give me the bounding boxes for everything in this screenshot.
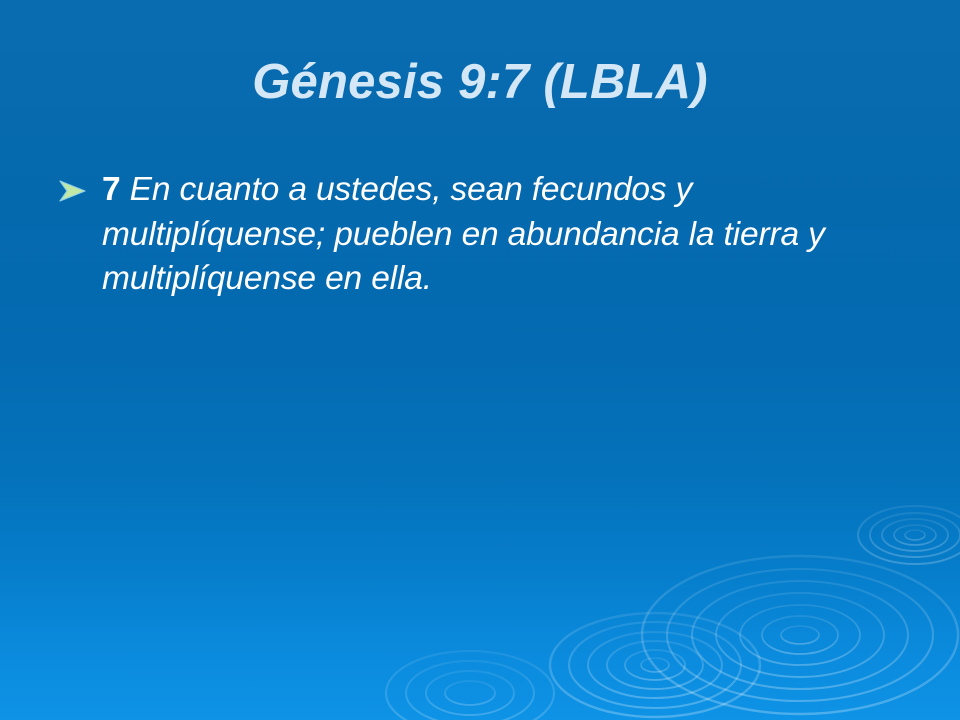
list-item: 7 En cuanto a ustedes, sean fecundos y m… <box>58 168 924 302</box>
ripple-edge-bottom-left <box>386 651 554 720</box>
ripple-large-bottom-right <box>642 556 958 714</box>
verse-number: 7 <box>102 171 120 208</box>
ripple-medium-bottom-center <box>550 613 760 717</box>
ripple-small-right <box>858 506 960 564</box>
slide-title: Génesis 9:7 (LBLA) <box>0 57 960 108</box>
arrowhead-bullet-icon <box>58 168 102 204</box>
presentation-slide: Génesis 9:7 (LBLA) 7 En cuanto a ustedes… <box>0 0 960 720</box>
slide-body: 7 En cuanto a ustedes, sean fecundos y m… <box>58 168 924 302</box>
verse-body: En cuanto a ustedes, sean fecundos y mul… <box>102 171 825 297</box>
verse-text: 7 En cuanto a ustedes, sean fecundos y m… <box>102 168 924 302</box>
